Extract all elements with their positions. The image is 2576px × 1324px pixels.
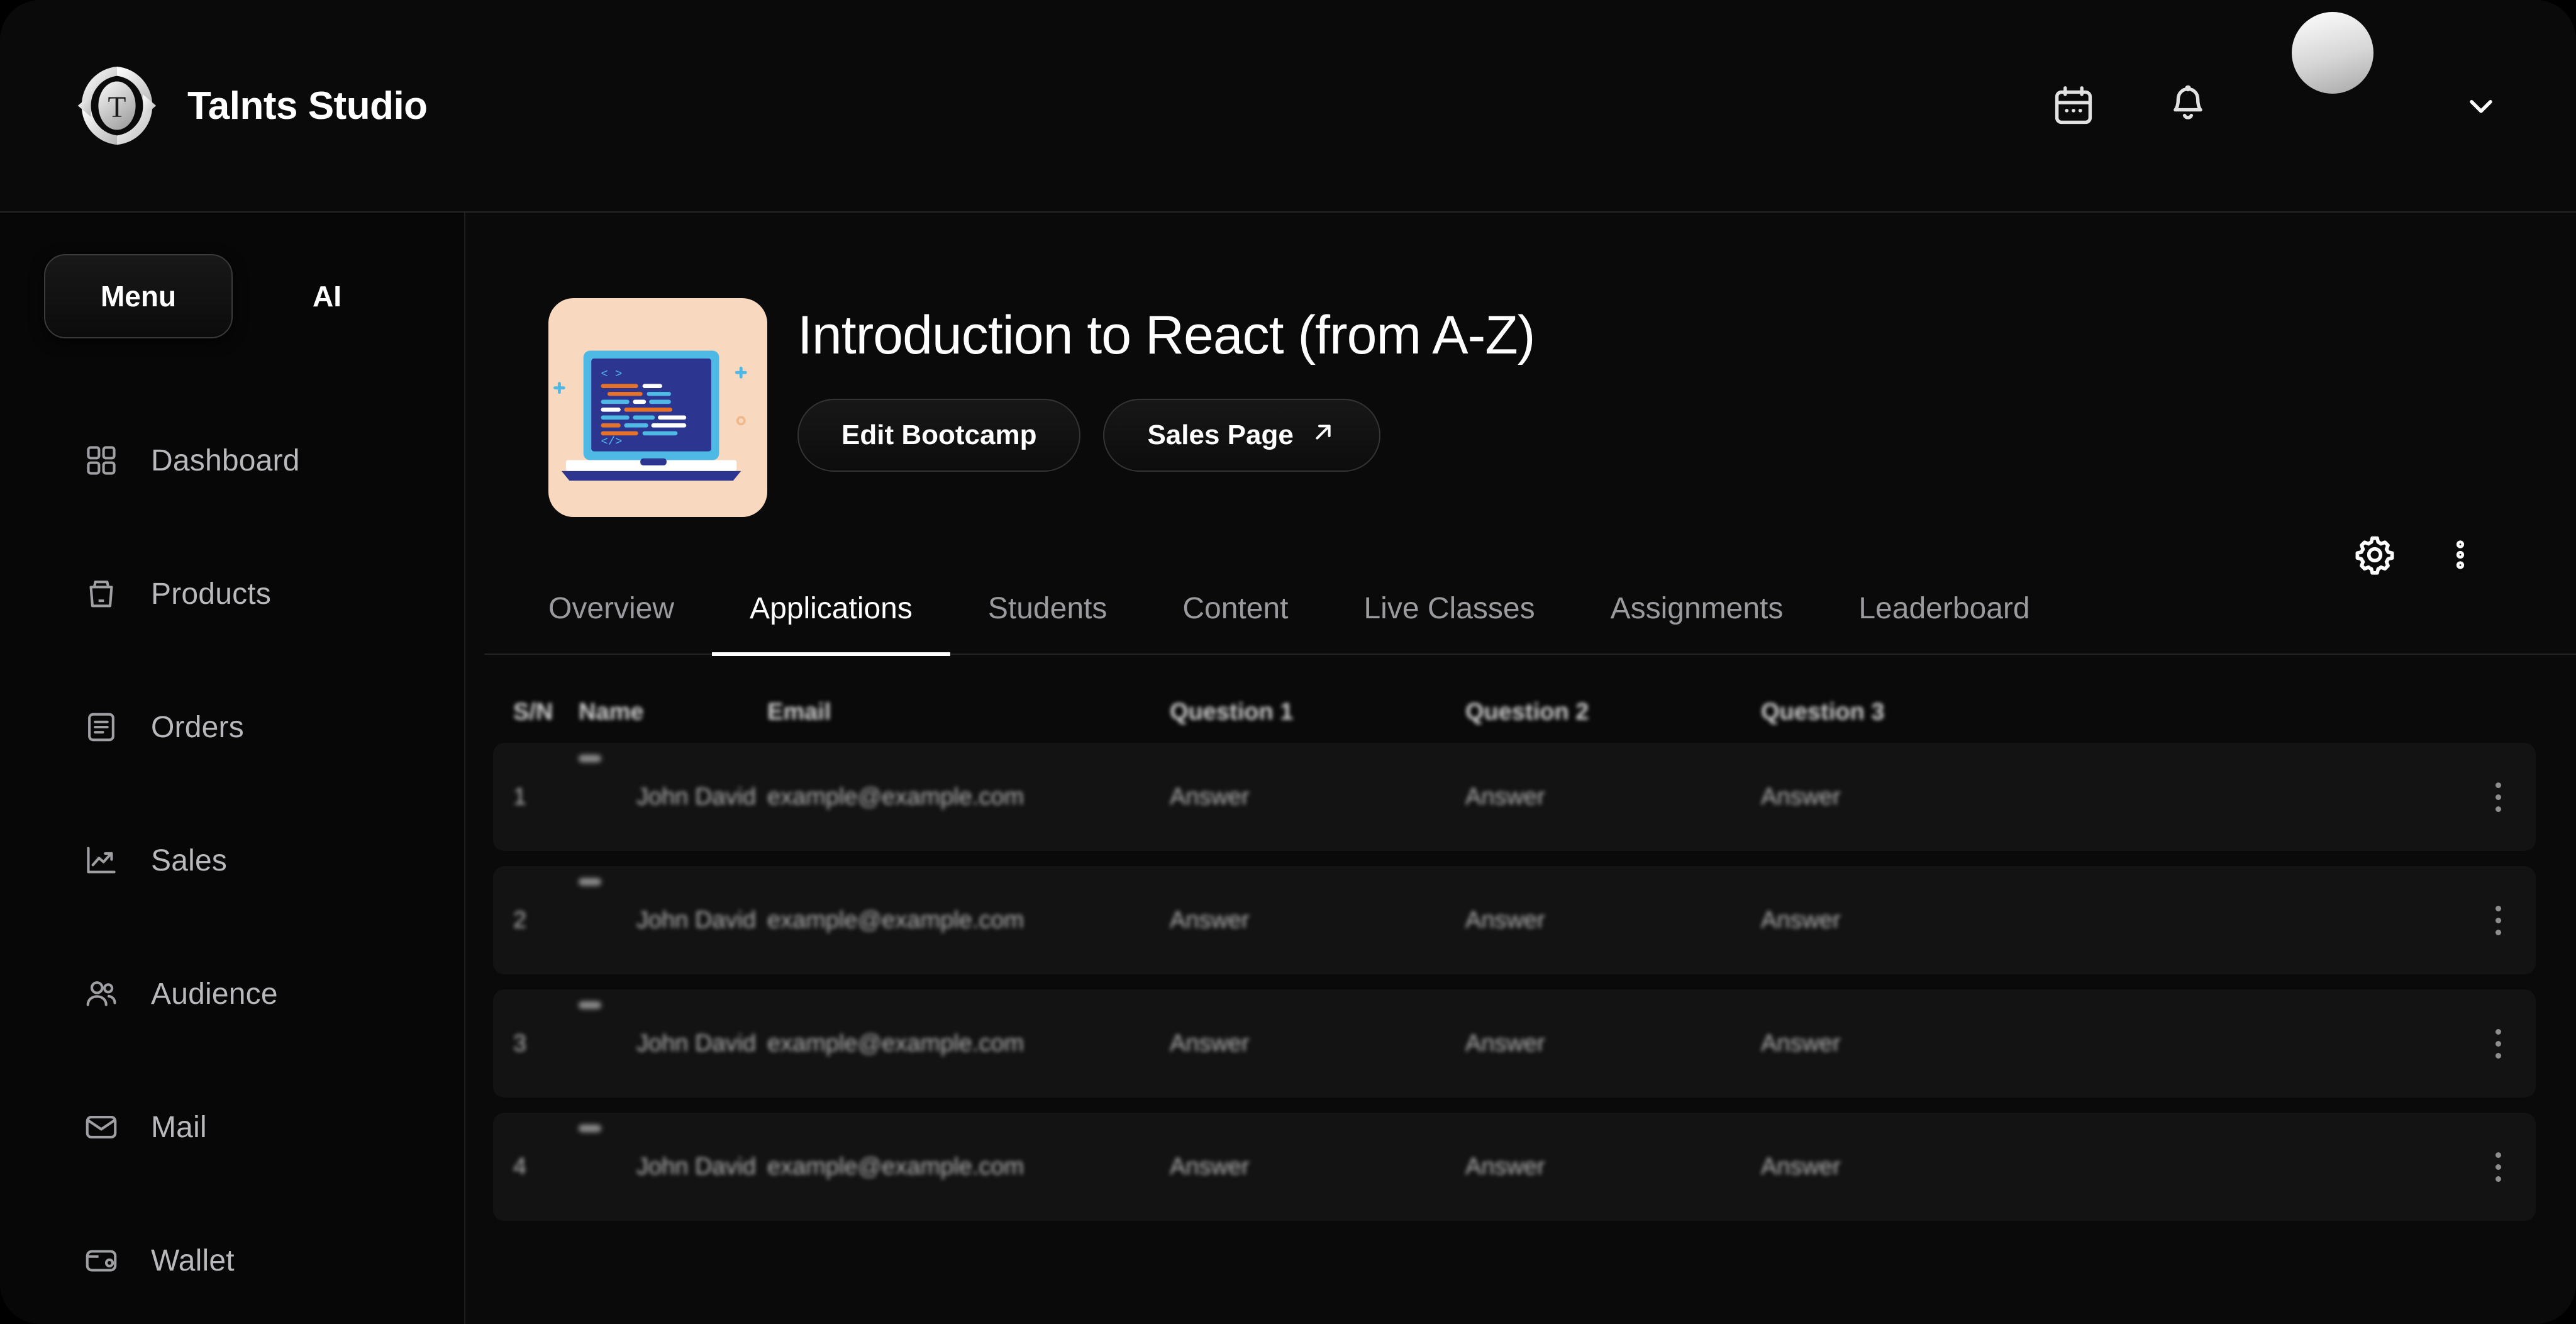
- course-tabs: Overview Applications Students Content L…: [484, 591, 2576, 655]
- svg-text:< >: < >: [601, 367, 623, 381]
- cell-question-2: Answer: [1465, 784, 1761, 811]
- sidebar-item-label: Audience: [151, 977, 278, 1011]
- avatar-image: [2292, 12, 2373, 94]
- sidebar-tab-menu[interactable]: Menu: [44, 254, 233, 338]
- user-avatar[interactable]: [2292, 65, 2373, 147]
- table-header-row: S/N Name Email Question 1 Question 2 Que…: [493, 655, 2536, 743]
- more-vertical-icon[interactable]: [2438, 532, 2483, 577]
- tab-live-classes[interactable]: Live Classes: [1326, 591, 1572, 656]
- course-meta: Introduction to React (from A-Z) Edit Bo…: [797, 298, 1535, 472]
- cell-question-3: Answer: [1761, 784, 2057, 811]
- external-link-icon: [1310, 419, 1336, 452]
- cell-name: John David: [579, 1030, 767, 1057]
- cell-name: John David: [579, 1154, 767, 1181]
- bell-icon[interactable]: [2153, 71, 2223, 140]
- header-actions: [2039, 65, 2516, 147]
- row-more-vertical-icon[interactable]: [2460, 906, 2536, 935]
- row-more-vertical-icon[interactable]: [2460, 1029, 2536, 1059]
- row-avatar: [579, 878, 601, 886]
- cell-question-1: Answer: [1170, 1154, 1465, 1181]
- tab-assignments[interactable]: Assignments: [1573, 591, 1821, 656]
- row-avatar: [579, 1001, 601, 1009]
- users-icon: [82, 974, 121, 1013]
- refresh-circle-logo-icon: T: [70, 59, 164, 152]
- edit-bootcamp-label: Edit Bootcamp: [841, 420, 1036, 451]
- sidebar-item-orders[interactable]: Orders: [0, 660, 464, 794]
- cell-question-2: Answer: [1465, 907, 1761, 934]
- column-header-question-3: Question 3: [1761, 699, 2057, 726]
- calendar-icon[interactable]: [2039, 71, 2108, 140]
- column-header-question-2: Question 2: [1465, 699, 1761, 726]
- sidebar-item-audience[interactable]: Audience: [0, 927, 464, 1060]
- cell-name-text: John David: [579, 784, 756, 810]
- sidebar-item-mail[interactable]: Mail: [0, 1060, 464, 1194]
- cell-question-2: Answer: [1465, 1154, 1761, 1181]
- sidebar-item-label: Sales: [151, 843, 227, 878]
- sidebar-item-dashboard[interactable]: Dashboard: [0, 394, 464, 527]
- trending-up-icon: [82, 841, 121, 880]
- gear-icon[interactable]: [2352, 532, 2397, 577]
- column-header-name: Name: [579, 699, 767, 726]
- brand-name: Talnts Studio: [187, 84, 428, 128]
- column-header-question-1: Question 1: [1170, 699, 1465, 726]
- laptop-code-illustration-icon: < > </>: [548, 298, 767, 517]
- box-icon: [82, 574, 121, 613]
- cell-question-2: Answer: [1465, 1030, 1761, 1057]
- row-avatar: [579, 1125, 601, 1132]
- sidebar-item-label: Mail: [151, 1110, 207, 1145]
- cell-question-3: Answer: [1761, 907, 2057, 934]
- wallet-icon: [82, 1241, 121, 1280]
- applications-table: S/N Name Email Question 1 Question 2 Que…: [467, 655, 2576, 1221]
- app-header: T Talnts Studio: [0, 0, 2576, 213]
- cell-question-3: Answer: [1761, 1154, 2057, 1181]
- course-header: < > </>: [467, 213, 2576, 517]
- sidebar: Menu AI Dashboard: [0, 213, 465, 1324]
- cell-question-1: Answer: [1170, 907, 1465, 934]
- cell-email: example@example.com: [767, 784, 1170, 811]
- cell-name: John David: [579, 784, 767, 811]
- cell-sn: 2: [493, 907, 579, 934]
- course-actions: Edit Bootcamp Sales Page: [797, 399, 1535, 472]
- row-more-vertical-icon[interactable]: [2460, 1152, 2536, 1182]
- app-window: T Talnts Studio: [0, 0, 2576, 1324]
- column-header-sn: S/N: [493, 699, 579, 726]
- cell-name-text: John David: [579, 1030, 756, 1057]
- cell-email: example@example.com: [767, 1154, 1170, 1181]
- sales-page-label: Sales Page: [1147, 420, 1293, 451]
- brand[interactable]: T Talnts Studio: [70, 59, 428, 152]
- cell-name-text: John David: [579, 1154, 756, 1180]
- sidebar-segmented-control: Menu AI: [0, 254, 464, 338]
- sidebar-item-label: Orders: [151, 710, 244, 745]
- cell-email: example@example.com: [767, 907, 1170, 934]
- main-content: < > </>: [467, 213, 2576, 1324]
- cell-email: example@example.com: [767, 1030, 1170, 1057]
- tab-leaderboard[interactable]: Leaderboard: [1821, 591, 2067, 656]
- tab-content[interactable]: Content: [1145, 591, 1326, 656]
- table-row[interactable]: 3 John David example@example.com Answer …: [493, 989, 2536, 1098]
- column-header-email: Email: [767, 699, 1170, 726]
- cell-question-1: Answer: [1170, 784, 1465, 811]
- cell-question-1: Answer: [1170, 1030, 1465, 1057]
- cell-sn: 3: [493, 1030, 579, 1057]
- list-document-icon: [82, 708, 121, 747]
- sidebar-item-sales[interactable]: Sales: [0, 794, 464, 927]
- sidebar-item-wallet[interactable]: Wallet: [0, 1194, 464, 1324]
- table-row[interactable]: 4 John David example@example.com Answer …: [493, 1113, 2536, 1221]
- grid-icon: [82, 441, 121, 480]
- sidebar-item-products[interactable]: Products: [0, 527, 464, 660]
- chevron-down-icon[interactable]: [2446, 71, 2516, 140]
- sidebar-tab-ai[interactable]: AI: [233, 254, 421, 338]
- envelope-icon: [82, 1108, 121, 1147]
- table-row[interactable]: 1 John David example@example.com Answer …: [493, 743, 2536, 851]
- tab-overview[interactable]: Overview: [511, 591, 712, 656]
- row-avatar: [579, 755, 601, 762]
- sidebar-item-label: Dashboard: [151, 443, 300, 478]
- tab-students[interactable]: Students: [950, 591, 1145, 656]
- sales-page-button[interactable]: Sales Page: [1103, 399, 1380, 472]
- cell-sn: 1: [493, 784, 579, 811]
- table-row[interactable]: 2 John David example@example.com Answer …: [493, 866, 2536, 974]
- row-more-vertical-icon[interactable]: [2460, 782, 2536, 812]
- svg-text:</>: </>: [601, 435, 623, 448]
- cell-name-text: John David: [579, 907, 756, 933]
- page-title: Introduction to React (from A-Z): [797, 307, 1535, 364]
- cell-sn: 4: [493, 1154, 579, 1181]
- tab-applications[interactable]: Applications: [712, 591, 950, 656]
- sidebar-nav: Dashboard Products: [0, 394, 464, 1324]
- sidebar-item-label: Wallet: [151, 1243, 235, 1278]
- edit-bootcamp-button[interactable]: Edit Bootcamp: [797, 399, 1080, 472]
- cell-name: John David: [579, 907, 767, 934]
- cell-question-3: Answer: [1761, 1030, 2057, 1057]
- course-toolbar: [2352, 532, 2483, 577]
- sidebar-item-label: Products: [151, 577, 271, 611]
- svg-text:T: T: [108, 91, 126, 124]
